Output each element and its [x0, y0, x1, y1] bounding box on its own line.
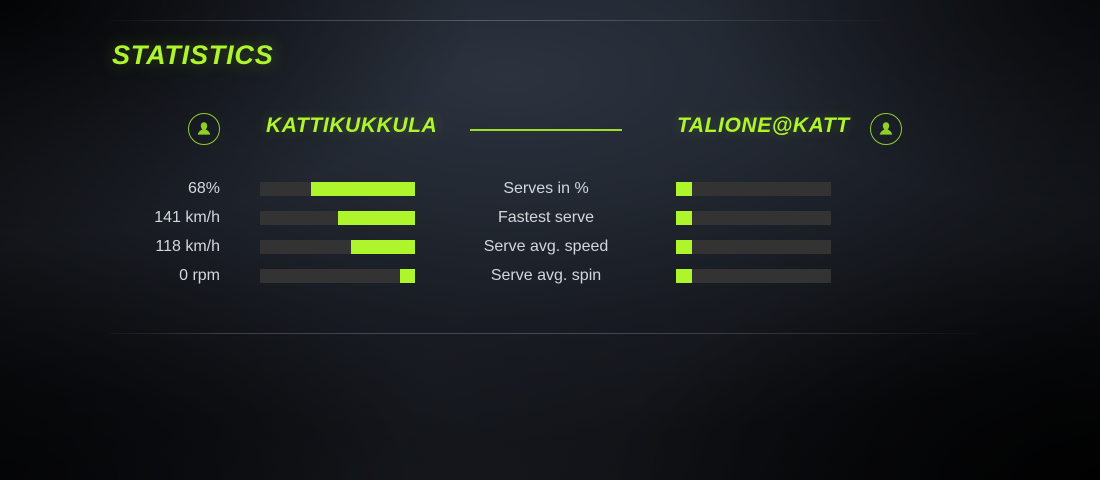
stat-value-left: 68%	[60, 176, 220, 205]
stat-value-left: 141 km/h	[60, 205, 220, 234]
stat-label: Serves in %	[396, 176, 696, 205]
stat-row: 0 rpmServe avg. spin	[0, 263, 1100, 292]
person-avatar-icon	[876, 119, 896, 139]
player-name-left: KATTIKUKKULA	[266, 114, 437, 138]
top-divider	[110, 20, 900, 21]
stat-row: 118 km/hServe avg. speed	[0, 234, 1100, 263]
stat-bar-right	[676, 269, 831, 283]
bottom-divider	[110, 333, 978, 334]
stat-bar-right	[676, 211, 831, 225]
stat-bar-left	[260, 269, 415, 283]
stat-bar-right-fill	[676, 211, 692, 225]
statistics-panel: STATISTICS KATTIKUKKULA TALIONE@KATT 68%…	[0, 0, 1100, 480]
stat-value-left: 118 km/h	[60, 234, 220, 263]
stat-label: Serve avg. speed	[396, 234, 696, 263]
stat-bar-left	[260, 182, 415, 196]
person-avatar-icon	[194, 119, 214, 139]
header-center-divider	[470, 129, 622, 131]
stat-bar-right-fill	[676, 269, 692, 283]
stat-row: 141 km/hFastest serve	[0, 205, 1100, 234]
stat-bar-right-fill	[676, 182, 692, 196]
stats-rows: 68%Serves in %141 km/hFastest serve118 k…	[0, 176, 1100, 292]
avatar-left[interactable]	[188, 113, 220, 145]
avatar-right[interactable]	[870, 113, 902, 145]
stat-bar-right	[676, 240, 831, 254]
stat-label: Serve avg. spin	[396, 263, 696, 292]
stat-bar-right	[676, 182, 831, 196]
stat-bar-left	[260, 240, 415, 254]
stat-bar-right-fill	[676, 240, 692, 254]
stat-row: 68%Serves in %	[0, 176, 1100, 205]
stat-bar-left	[260, 211, 415, 225]
stat-label: Fastest serve	[396, 205, 696, 234]
page-title: STATISTICS	[112, 40, 274, 71]
stat-value-left: 0 rpm	[60, 263, 220, 292]
player-name-right: TALIONE@KATT	[677, 114, 850, 138]
